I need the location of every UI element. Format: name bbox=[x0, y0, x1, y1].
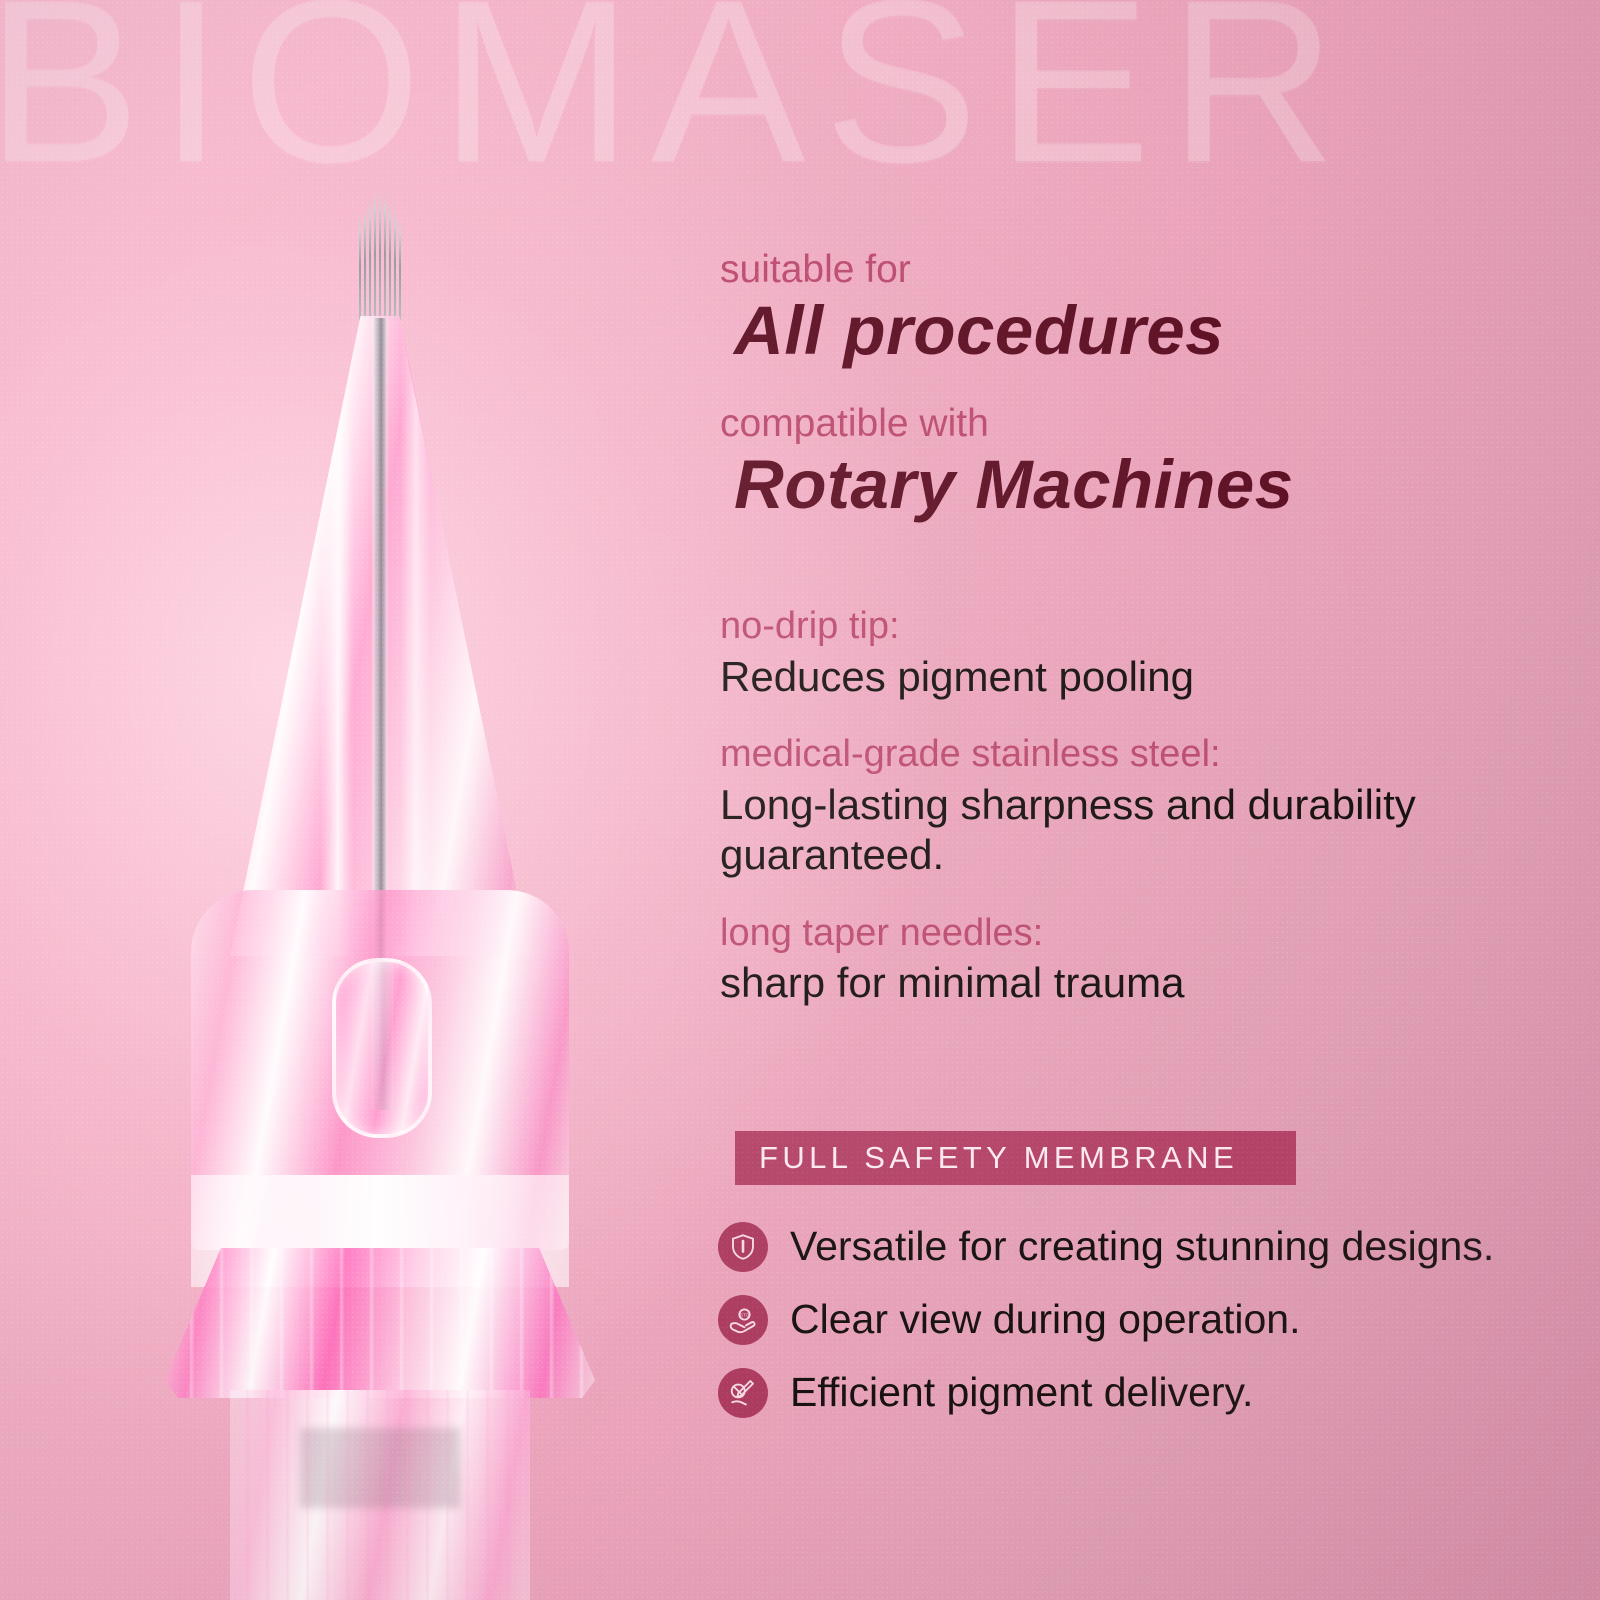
compatible-headline: Rotary Machines bbox=[734, 448, 1580, 523]
feature-text: sharp for minimal trauma bbox=[720, 958, 1580, 1008]
cartridge-stem-ribs bbox=[230, 1390, 530, 1600]
list-item: Efficient pigment delivery. bbox=[718, 1368, 1598, 1418]
feature-stainless-steel: medical-grade stainless steel: Long-last… bbox=[720, 732, 1580, 880]
product-infographic: BIOMASER suitable for All procedures bbox=[0, 0, 1600, 1600]
feature-label: no-drip tip: bbox=[720, 604, 1580, 650]
cartridge-skirt-ribs bbox=[165, 1248, 595, 1398]
list-item-label: Efficient pigment delivery. bbox=[790, 1369, 1253, 1416]
list-item: Versatile for creating stunning designs. bbox=[718, 1222, 1598, 1272]
feature-label: long taper needles: bbox=[720, 911, 1580, 957]
taper-highlight bbox=[230, 320, 530, 956]
compatible-kicker: compatible with bbox=[720, 402, 1580, 446]
membrane-window bbox=[332, 958, 432, 1138]
no-pen-icon bbox=[718, 1368, 768, 1418]
needle-bundle-icon bbox=[357, 190, 403, 320]
suitable-headline: All procedures bbox=[734, 294, 1580, 369]
feature-text: Reduces pigment pooling bbox=[720, 652, 1580, 702]
list-item: STO Clear view during operation. bbox=[718, 1295, 1598, 1345]
list-item-label: Clear view during operation. bbox=[790, 1296, 1301, 1343]
hand-stop-icon: STO bbox=[718, 1295, 768, 1345]
product-image bbox=[120, 190, 640, 1600]
feature-label: medical-grade stainless steel: bbox=[720, 732, 1580, 778]
shield-needle-icon bbox=[718, 1222, 768, 1272]
feature-text: Long-lasting sharpness and durability gu… bbox=[720, 780, 1580, 881]
benefit-list: Versatile for creating stunning designs.… bbox=[718, 1222, 1598, 1441]
safety-membrane-banner: FULL SAFETY MEMBRANE bbox=[735, 1131, 1296, 1185]
svg-text:STO: STO bbox=[740, 1312, 750, 1317]
list-item-label: Versatile for creating stunning designs. bbox=[790, 1223, 1494, 1270]
feature-long-taper-needles: long taper needles: sharp for minimal tr… bbox=[720, 911, 1580, 1009]
feature-no-drip-tip: no-drip tip: Reduces pigment pooling bbox=[720, 604, 1580, 702]
suitable-kicker: suitable for bbox=[720, 248, 1580, 292]
brand-watermark: BIOMASER bbox=[0, 0, 1600, 198]
copy-column: suitable for All procedures compatible w… bbox=[720, 248, 1580, 1009]
safety-membrane-banner-label: FULL SAFETY MEMBRANE bbox=[759, 1140, 1238, 1176]
